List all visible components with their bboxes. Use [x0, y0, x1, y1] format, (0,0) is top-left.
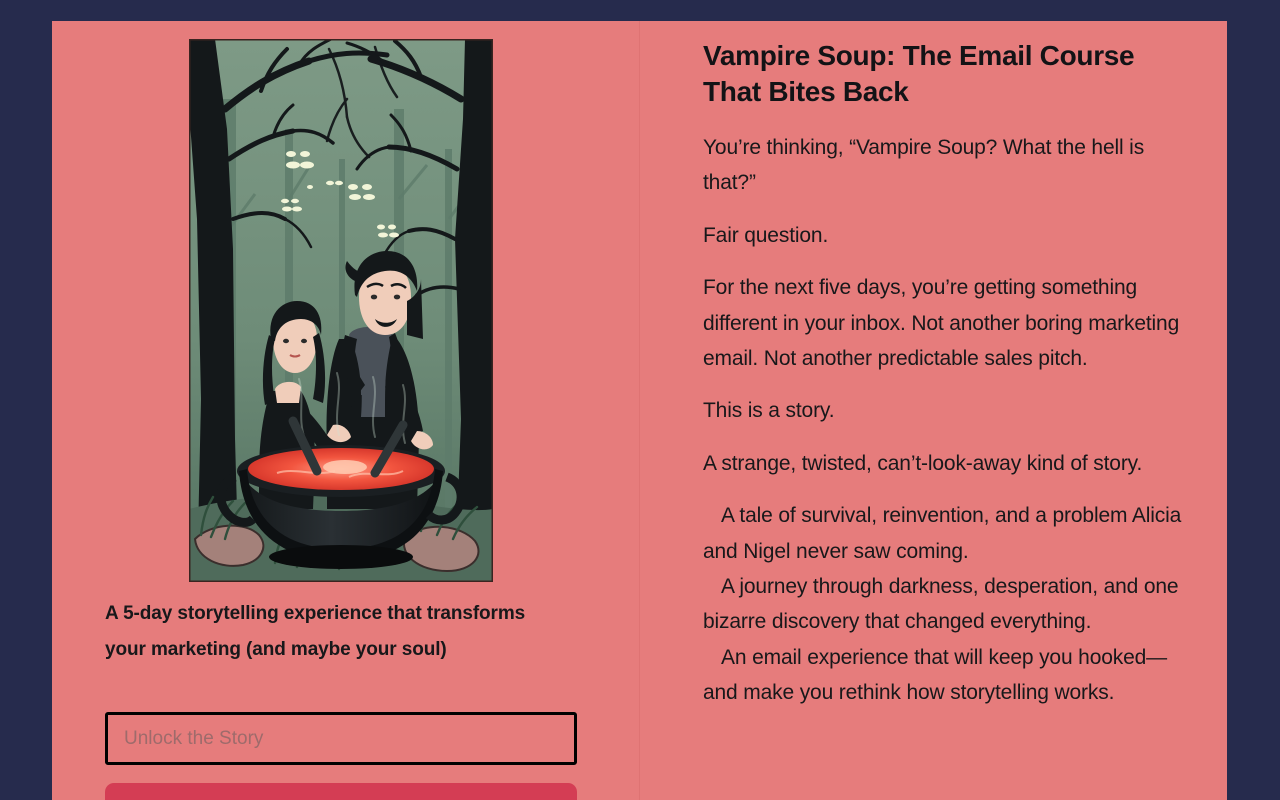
- list-item: A journey through darkness, desperation,…: [703, 569, 1193, 640]
- list-item: A tale of survival, reinvention, and a p…: [703, 498, 1193, 569]
- landing-content-card: A 5-day storytelling experience that tra…: [52, 21, 1227, 800]
- body-paragraph: You’re thinking, “Vampire Soup? What the…: [703, 130, 1193, 201]
- left-column: A 5-day storytelling experience that tra…: [52, 21, 640, 800]
- body-paragraph: Fair question.: [703, 218, 1193, 253]
- right-column-inner: Vampire Soup: The Email Course That Bite…: [703, 38, 1193, 711]
- left-tagline: A 5-day storytelling experience that tra…: [105, 596, 550, 667]
- vampire-couple-cauldron-illustration: [189, 39, 493, 582]
- page-root: A 5-day storytelling experience that tra…: [0, 0, 1280, 800]
- page-title: Vampire Soup: The Email Course That Bite…: [703, 38, 1193, 110]
- body-paragraph: A strange, twisted, can’t-look-away kind…: [703, 446, 1193, 481]
- submit-button[interactable]: Join the Story: [105, 783, 577, 800]
- body-paragraph: This is a story.: [703, 393, 1193, 428]
- email-input[interactable]: [105, 712, 577, 765]
- bullet-list: A tale of survival, reinvention, and a p…: [703, 498, 1193, 710]
- right-column: Vampire Soup: The Email Course That Bite…: [640, 21, 1227, 800]
- body-paragraph: For the next five days, you’re getting s…: [703, 270, 1193, 376]
- list-item: An email experience that will keep you h…: [703, 640, 1193, 711]
